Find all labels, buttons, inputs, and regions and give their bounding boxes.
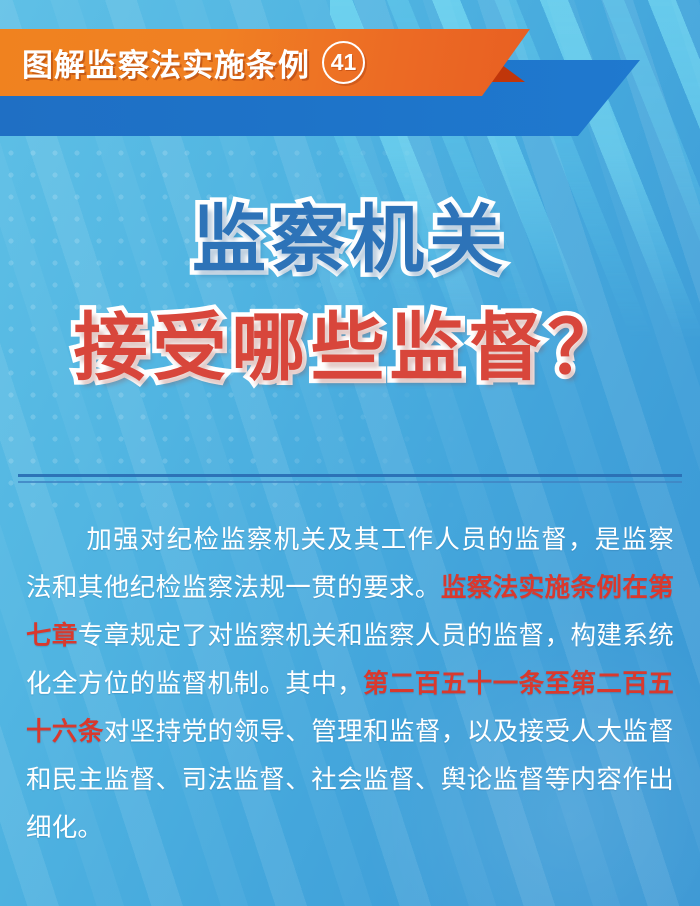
series-title: 图解监察法实施条例 <box>22 40 310 85</box>
ribbon-content: 图解监察法实施条例 41 <box>22 40 365 85</box>
divider-rule-thick <box>18 474 682 477</box>
ribbon-orange-shape: 图解监察法实施条例 41 <box>0 29 530 96</box>
headline-block: 监察机关 接受哪些监督？ <box>0 186 700 402</box>
header-ribbon: 图解监察法实施条例 41 <box>0 0 700 150</box>
headline-line-2: 接受哪些监督？ <box>0 294 700 402</box>
episode-number-badge: 41 <box>322 41 365 84</box>
body-text-run: 对坚持党的领导、管理和监督，以及接受人大监督和民主监督、司法监督、社会监督、舆论… <box>26 718 674 842</box>
infographic-poster: 图解监察法实施条例 41 监察机关 接受哪些监督？ 加强对纪检监察机关及其工作人… <box>0 0 700 906</box>
body-paragraph: 加强对纪检监察机关及其工作人员的监督，是监察法和其他纪检监察法规一贯的要求。监察… <box>26 516 674 852</box>
divider-rule-thin <box>18 481 682 483</box>
headline-line-1: 监察机关 <box>0 186 700 294</box>
section-divider <box>18 474 682 483</box>
